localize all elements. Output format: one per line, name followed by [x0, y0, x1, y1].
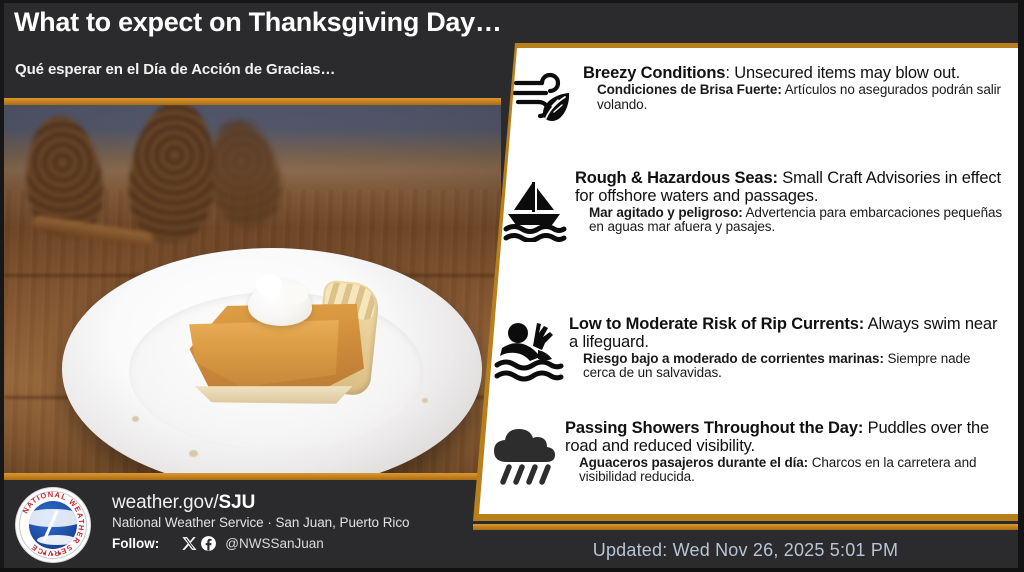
hazard-item-en: Low to Moderate Risk of Rip Currents: Al… — [569, 316, 1005, 352]
hazard-item-es: Condiciones de Brisa Fuerte: Artículos n… — [583, 83, 1003, 113]
nws-seal-globe — [29, 501, 77, 549]
footer-text-block: weather.gov/SJU National Weather Service… — [112, 492, 410, 552]
hazard-item-es-title: Riesgo bajo a moderado de corrientes mar… — [583, 351, 884, 366]
office-name: National Weather Service · San Juan, Pue… — [112, 514, 410, 533]
hazard-item-en-body: Unsecured items may blow out. — [734, 64, 960, 82]
hazard-item-es-title: Condiciones de Brisa Fuerte: — [597, 82, 782, 97]
hazard-items: Breezy Conditions: Unsecured items may b… — [473, 48, 1018, 514]
photo-divider-bottom — [4, 473, 501, 480]
hazard-item-passing-showers: Passing Showers Throughout the Day: Pudd… — [485, 420, 1005, 486]
hazard-item-en-title: Rough & Hazardous Seas: — [575, 169, 778, 187]
thanksgiving-photo — [4, 98, 501, 480]
website-url-prefix: weather.gov/ — [112, 492, 219, 513]
hazard-item-en-title: Passing Showers Throughout the Day: — [565, 419, 863, 437]
photo-divider-top — [4, 98, 501, 105]
footer: NATIONAL WEATHER SERVICE weather.gov/SJU… — [0, 482, 512, 572]
hazard-list-panel: Breezy Conditions: Unsecured items may b… — [473, 43, 1018, 521]
social-handle[interactable]: @NWSSanJuan — [225, 536, 324, 551]
pumpkin-pie-slice — [184, 280, 369, 406]
hazard-item-en: Breezy Conditions: Unsecured items may b… — [583, 65, 1003, 83]
follow-label: Follow: — [112, 536, 159, 551]
website-url-office: SJU — [219, 492, 256, 513]
social-icons[interactable] — [181, 535, 217, 552]
hazard-item-es-title: Aguaceros pasajeros durante el día: — [579, 455, 808, 470]
hazard-item-en-title: Low to Moderate Risk of Rip Currents: — [569, 315, 864, 333]
sailboat-icon — [495, 170, 575, 242]
page-subtitle-spanish: Qué esperar en el Día de Acción de Graci… — [15, 61, 335, 78]
updated-divider — [473, 524, 1018, 530]
rain-cloud-icon — [485, 420, 565, 486]
frame-edge-right — [1018, 0, 1024, 572]
hazard-list-panel-surface: Breezy Conditions: Unsecured items may b… — [473, 48, 1018, 514]
nws-seal-logo: NATIONAL WEATHER SERVICE — [16, 488, 90, 562]
pie-base-crust — [188, 386, 356, 404]
hazard-item-es-title: Mar agitado y peligroso: — [589, 205, 743, 220]
page-title: What to expect on Thanksgiving Day… — [14, 7, 502, 38]
hazard-item-rough-seas: Rough & Hazardous Seas: Small Craft Advi… — [495, 170, 1003, 242]
crumb — [422, 398, 428, 403]
follow-row: Follow: @NWSSanJuan — [112, 535, 410, 552]
infographic-canvas: What to expect on Thanksgiving Day… Qué … — [0, 0, 1024, 572]
hazard-item-text: Breezy Conditions: Unsecured items may b… — [583, 65, 1003, 113]
updated-bar: Updated: Wed Nov 26, 2025 5:01 PM — [473, 524, 1018, 568]
website-url[interactable]: weather.gov/SJU — [112, 492, 410, 514]
hazard-item-text: Passing Showers Throughout the Day: Pudd… — [565, 420, 1005, 485]
hazard-item-en-title: Breezy Conditions — [583, 64, 725, 82]
x-icon[interactable] — [181, 535, 198, 552]
crumb — [189, 450, 198, 457]
hazard-item-en: Passing Showers Throughout the Day: Pudd… — [565, 420, 1005, 456]
photo-scene — [4, 98, 501, 480]
hazard-item-rip-currents: Low to Moderate Risk of Rip Currents: Al… — [489, 316, 1005, 382]
hazard-item-es: Riesgo bajo a moderado de corrientes mar… — [569, 352, 1005, 382]
hazard-item-text: Rough & Hazardous Seas: Small Craft Advi… — [575, 170, 1003, 235]
hazard-item-es: Mar agitado y peligroso: Advertencia par… — [575, 206, 1003, 236]
crumb — [132, 416, 139, 422]
hazard-item-en-sep: : — [725, 64, 734, 82]
lightning-bolt-icon — [42, 510, 59, 542]
whipped-cream — [248, 280, 312, 326]
updated-timestamp: Updated: Wed Nov 26, 2025 5:01 PM — [593, 532, 898, 561]
hazard-item-text: Low to Moderate Risk of Rip Currents: Al… — [569, 316, 1005, 381]
rip-current-swimmer-icon — [489, 316, 569, 382]
wind-icon — [503, 65, 583, 123]
hazard-item-es: Aguaceros pasajeros durante el día: Char… — [565, 456, 1005, 486]
hazard-item-en: Rough & Hazardous Seas: Small Craft Advi… — [575, 170, 1003, 206]
header: What to expect on Thanksgiving Day… Qué … — [0, 0, 512, 98]
hazard-item-breezy-conditions: Breezy Conditions: Unsecured items may b… — [503, 65, 1003, 123]
facebook-icon[interactable] — [200, 535, 217, 552]
